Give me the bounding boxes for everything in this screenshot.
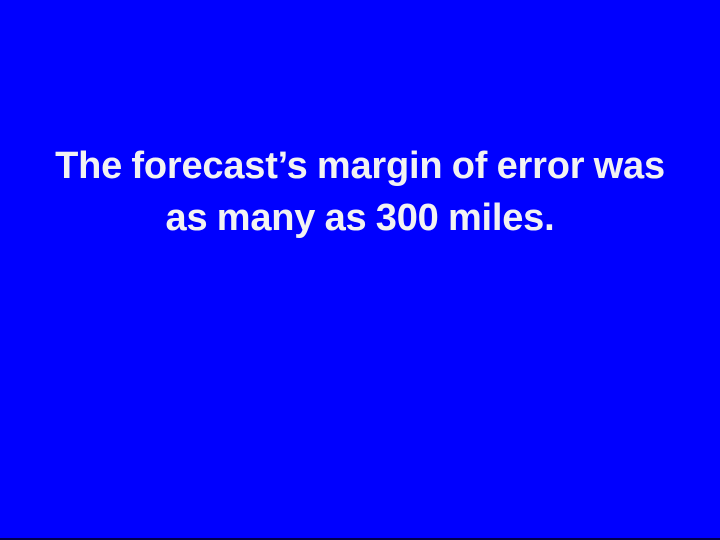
answer-text: The forecast’s margin of error was as ma… [50,140,670,244]
answer-text-block: The forecast’s margin of error was as ma… [50,140,670,244]
slide-canvas: The forecast’s margin of error was as ma… [0,0,720,540]
